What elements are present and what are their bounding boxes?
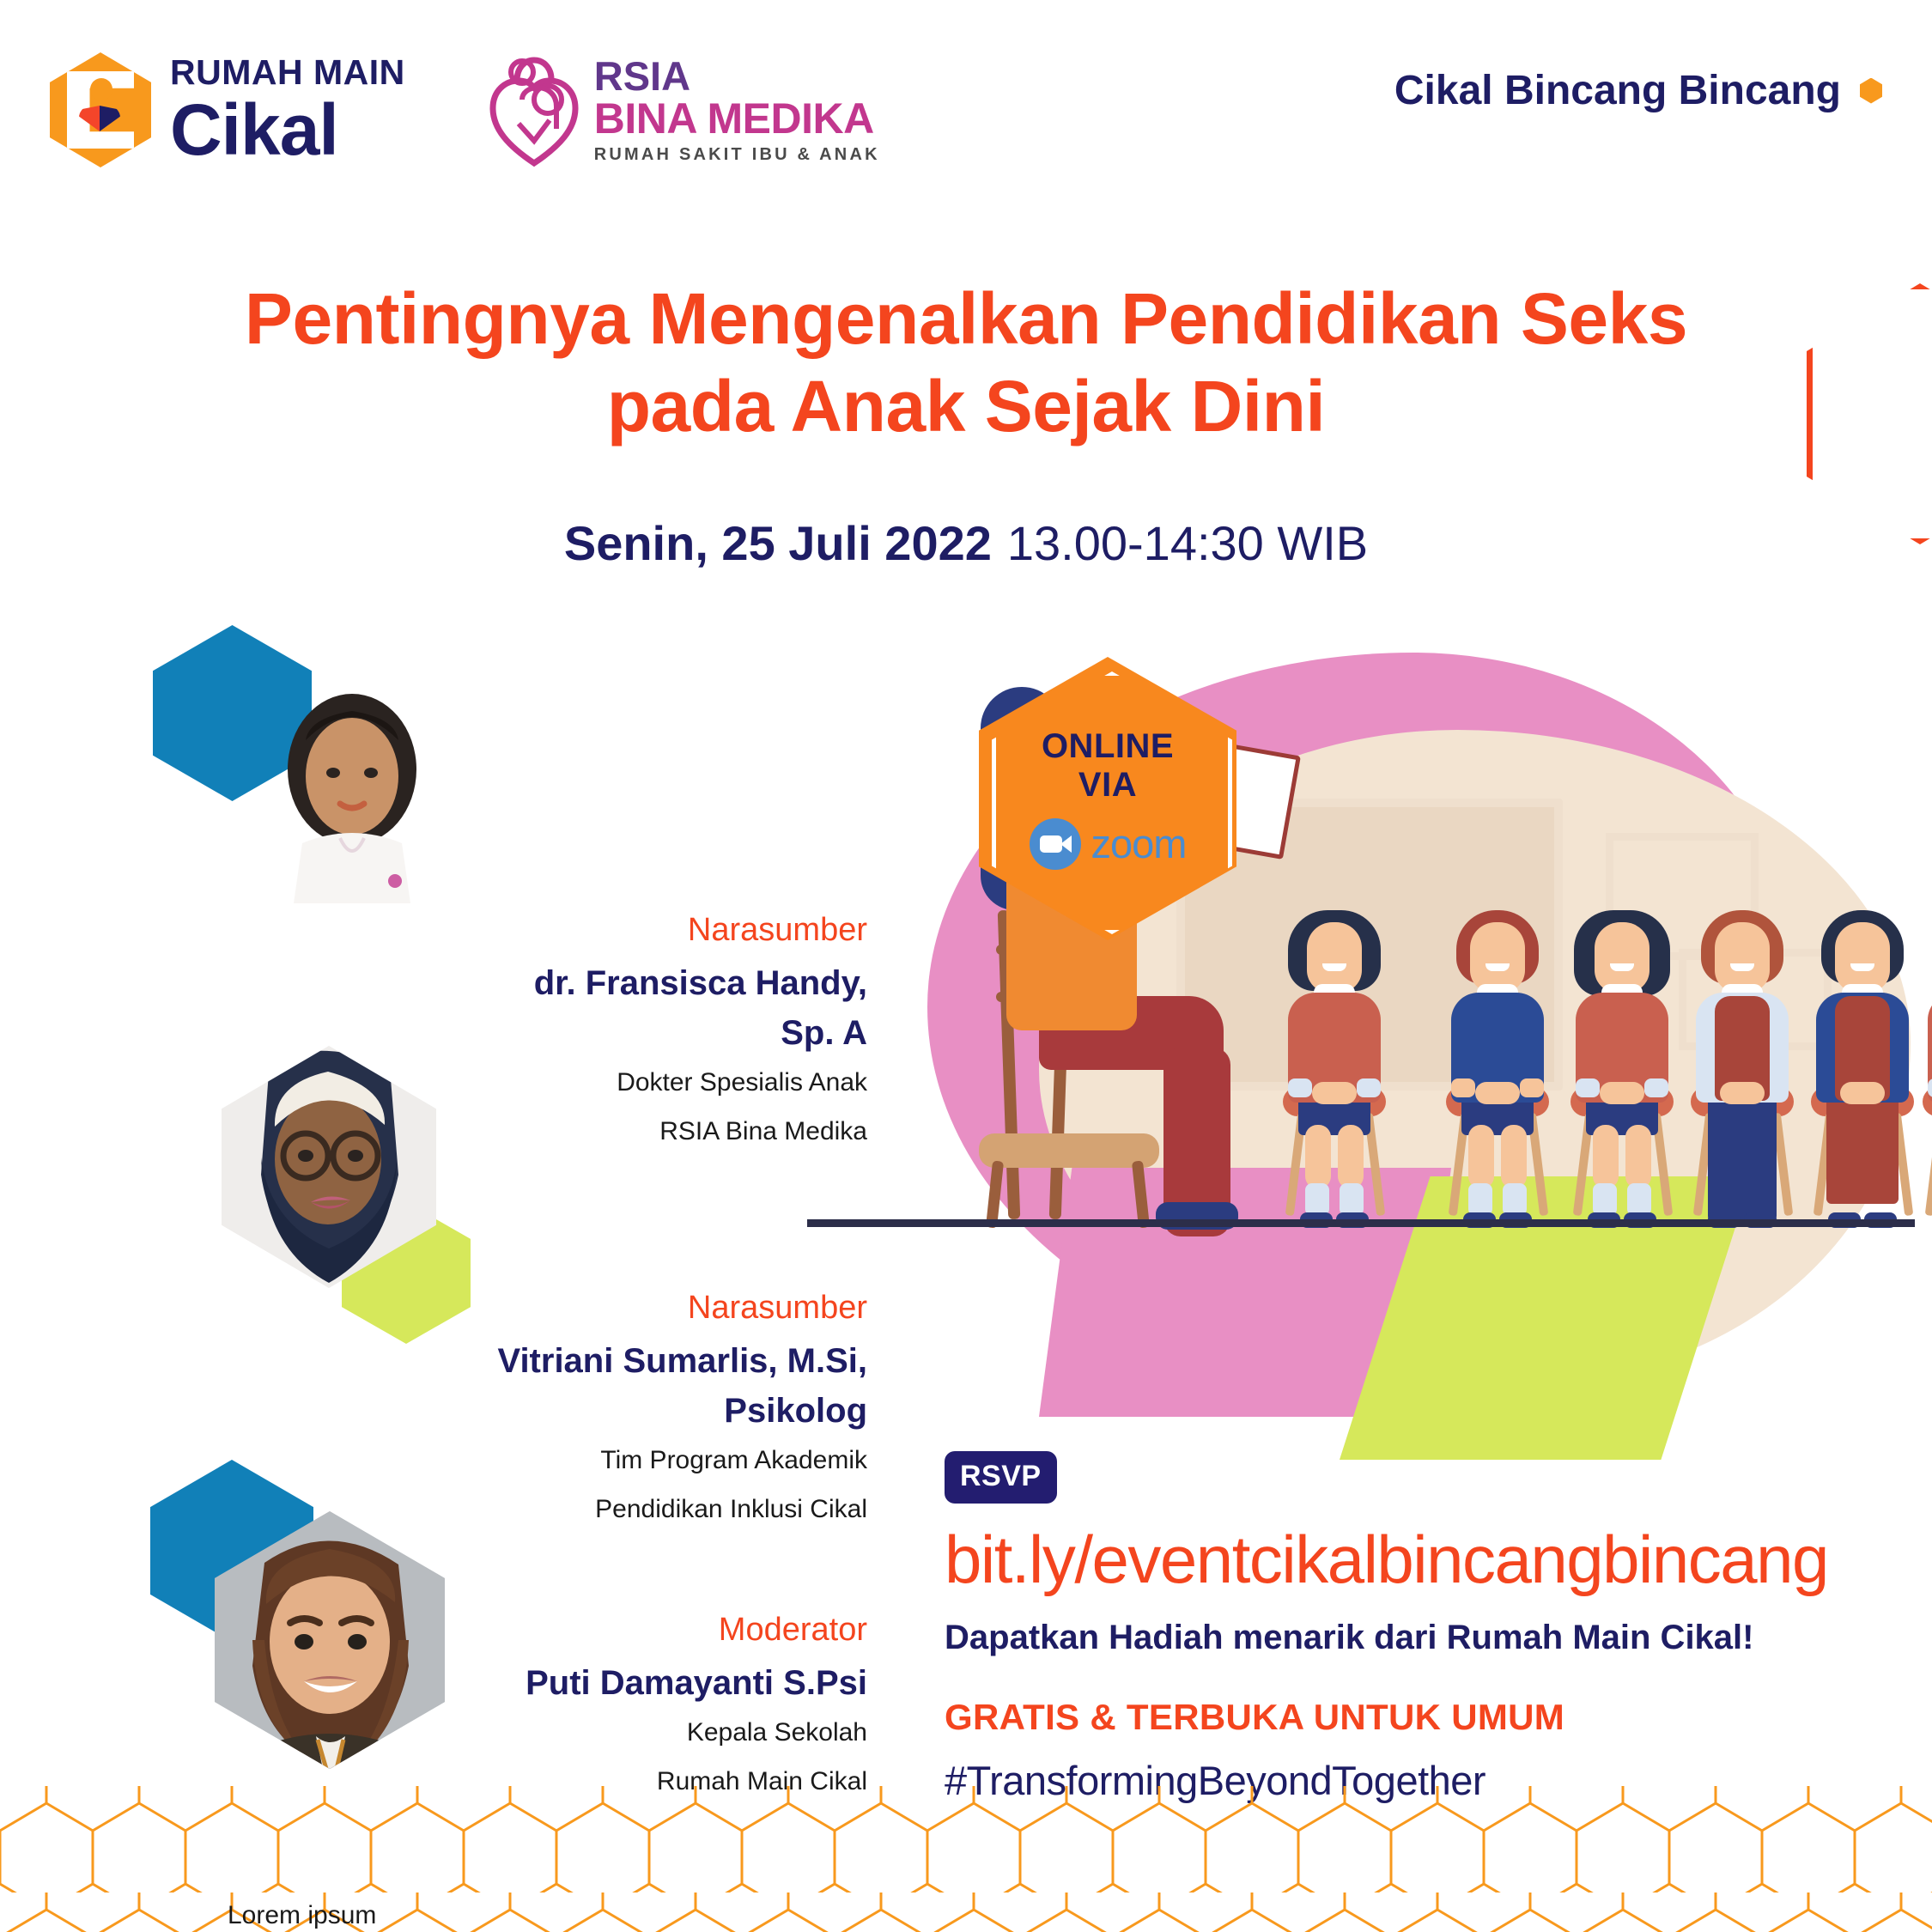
speaker-info-1: Narasumber dr. Fransisca Handy, Sp. A Do…	[481, 910, 867, 1156]
speaker-info-3: Moderator Puti Damayanti S.Psi Kepala Se…	[481, 1610, 867, 1806]
free-notice: GRATIS & TERBUKA UNTUK UMUM	[945, 1697, 1828, 1738]
student-figure-6	[1911, 910, 1932, 1228]
event-time: 13.00-14:30 WIB	[1007, 516, 1368, 570]
speaker-org-1-line2: RSIA Bina Medika	[481, 1107, 867, 1156]
cikal-hexagon-logo-icon	[50, 52, 151, 167]
rsvp-badge: RSVP	[945, 1451, 1057, 1504]
series-tag: Cikal Bincang Bincang	[1394, 67, 1882, 114]
video-camera-icon	[1030, 818, 1081, 870]
student-figure-5	[1799, 910, 1928, 1228]
speaker-name-3: Puti Damayanti S.Psi	[481, 1658, 867, 1708]
series-tag-label: Cikal Bincang Bincang	[1394, 67, 1841, 114]
rsvp-section: RSVP bit.ly/eventcikalbincangbincang Dap…	[945, 1451, 1828, 1804]
footer-note: Lorem ipsum	[228, 1901, 376, 1930]
student-figure-2	[1434, 910, 1563, 1228]
mother-and-child-icon	[488, 50, 580, 170]
zoom-logo: zoom	[1030, 818, 1187, 870]
event-poster: RUMAH MAIN Cikal RSIA BINA MEDIKA RUMAH	[0, 0, 1932, 1932]
speaker-name-1: dr. Fransisca Handy, Sp. A	[481, 958, 867, 1058]
student-figure-3	[1558, 910, 1687, 1228]
prize-note: Dapatkan Hadiah menarik dari Rumah Main …	[945, 1619, 1828, 1657]
speaker-org-1-line1: Dokter Spesialis Anak	[481, 1058, 867, 1107]
student-figure-4	[1679, 910, 1807, 1228]
title-line-2: pada Anak Sejak Dini	[103, 362, 1829, 450]
event-schedule: Senin, 25 Juli 202213.00-14:30 WIB	[103, 515, 1829, 571]
rsia-bina-medika-logo: RSIA BINA MEDIKA RUMAH SAKIT IBU & ANAK	[488, 50, 880, 170]
hexagon-dot-icon	[1860, 78, 1882, 104]
speaker-photo-1	[258, 687, 447, 903]
title-line-1: Pentingnya Mengenalkan Pendidikan Seks	[245, 278, 1687, 359]
speaker-name-2: Vitriani Sumarlis, M.Si, Psikolog	[438, 1336, 867, 1436]
cikal-logo-tagline: RUMAH MAIN	[170, 55, 405, 90]
floor-line	[807, 1219, 1915, 1227]
rsia-logo-line2: BINA MEDIKA	[594, 97, 880, 141]
rumah-main-cikal-logo: RUMAH MAIN Cikal	[50, 52, 405, 167]
badge-line-1: ONLINE	[1042, 727, 1174, 766]
speaker-role-2: Narasumber	[438, 1288, 867, 1329]
page-title: Pentingnya Mengenalkan Pendidikan Seks p…	[103, 275, 1829, 451]
speaker-org-2-line2: Pendidikan Inklusi Cikal	[438, 1485, 867, 1534]
speaker-org-3-line1: Kepala Sekolah	[481, 1708, 867, 1757]
event-date: Senin, 25 Juli 2022	[564, 516, 992, 570]
speaker-role-1: Narasumber	[481, 910, 867, 951]
cikal-logo-name: Cikal	[170, 94, 405, 166]
rsvp-link[interactable]: bit.ly/eventcikalbincangbincang	[945, 1526, 1828, 1593]
student-figure-1	[1271, 910, 1400, 1228]
rsia-logo-line1: RSIA	[594, 56, 880, 97]
zoom-wordmark: zoom	[1091, 820, 1187, 867]
speaker-info-2: Narasumber Vitriani Sumarlis, M.Si, Psik…	[438, 1288, 867, 1534]
speaker-role-3: Moderator	[481, 1610, 867, 1651]
rsia-logo-line3: RUMAH SAKIT IBU & ANAK	[594, 146, 880, 163]
speaker-org-2-line1: Tim Program Akademik	[438, 1436, 867, 1485]
header-logos: RUMAH MAIN Cikal RSIA BINA MEDIKA RUMAH	[50, 50, 880, 170]
badge-line-2: VIA	[1078, 766, 1137, 805]
